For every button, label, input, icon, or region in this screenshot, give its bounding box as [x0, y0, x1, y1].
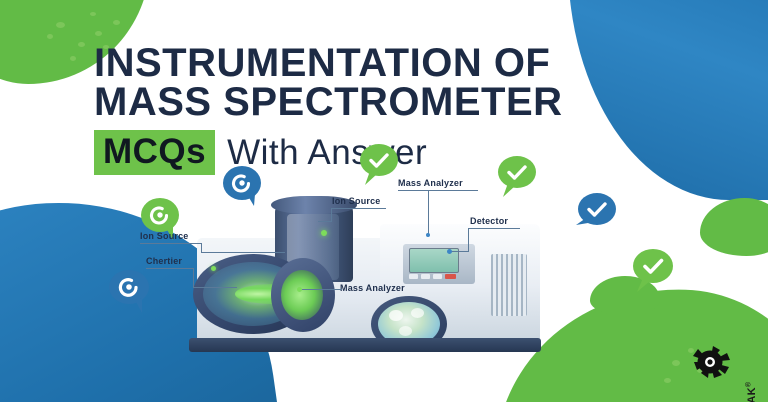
leader-line: [193, 268, 194, 288]
callout-chertier: Chertier: [146, 256, 182, 266]
leader-line: [398, 190, 478, 191]
title-line-2: MASS SPECTROMETER: [94, 83, 694, 122]
leader-line: [331, 208, 332, 222]
speech-bubble-swirl-icon: [108, 268, 150, 308]
leader-line: [468, 228, 520, 229]
brand-name-text: PHARMACY FREAK: [746, 387, 758, 402]
panel-button: [421, 274, 430, 279]
callout-label: Ion Source: [140, 231, 189, 241]
confetti-dot: [70, 56, 76, 61]
leader-line: [201, 252, 285, 253]
leader-line: [140, 243, 202, 244]
panel-button: [433, 274, 442, 279]
leader-line: [468, 228, 469, 252]
leader-line: [193, 287, 237, 288]
confetti-dot: [78, 42, 85, 47]
instrument-base: [189, 338, 541, 352]
callout-mass-analyzer-mid: Mass Analyzer: [340, 283, 405, 293]
panel-button-red: [445, 274, 456, 279]
callout-label: Detector: [470, 216, 508, 226]
confetti-dot: [90, 12, 96, 16]
leader-line: [146, 268, 194, 269]
speech-bubble-check-icon: [632, 248, 676, 288]
callout-ion-source-left: Ion Source: [140, 231, 189, 241]
speech-bubble-check-icon: [359, 143, 399, 181]
confetti-dot: [47, 34, 53, 39]
sample-vial: [411, 308, 424, 318]
confetti-dot: [672, 360, 680, 366]
callout-dot: [426, 233, 430, 237]
speech-bubble-check-icon: [497, 155, 537, 193]
confetti-dot: [664, 378, 671, 383]
callout-label: Mass Analyzer: [398, 178, 463, 188]
callout-detector: Detector: [470, 216, 508, 226]
poster-canvas: INSTRUMENTATION OF MASS SPECTROMETER MCQ…: [0, 0, 768, 402]
registered-mark: ®: [745, 382, 752, 387]
sample-vial: [389, 310, 403, 321]
confetti-dot: [95, 31, 102, 36]
leader-line: [318, 221, 332, 222]
callout-dot: [297, 287, 302, 292]
callout-label: Ion Source: [332, 196, 381, 206]
leader-line: [300, 289, 342, 290]
confetti-dot: [113, 20, 120, 25]
brand-logo[interactable]: PHARMACY FREAK®: [692, 318, 764, 396]
callout-label: Mass Analyzer: [340, 283, 405, 293]
leader-line: [450, 251, 469, 252]
callout-label: Chertier: [146, 256, 182, 266]
analyzer-led: [211, 266, 216, 271]
source-indicator-led: [321, 230, 327, 236]
callout-mass-analyzer-top: Mass Analyzer: [398, 178, 463, 188]
vent-grille: [491, 254, 527, 316]
leader-line: [331, 208, 386, 209]
green-nub-right: [700, 198, 768, 256]
sample-vial: [399, 326, 412, 336]
panel-button: [409, 274, 418, 279]
callout-dot: [447, 249, 452, 254]
callout-ion-source-top: Ion Source: [332, 196, 381, 206]
analyzer-ring-core: [281, 270, 323, 320]
confetti-dot: [56, 22, 65, 28]
speech-bubble-swirl-icon: [140, 197, 180, 235]
mcqs-badge: MCQs: [94, 130, 215, 175]
brand-name: PHARMACY FREAK®: [745, 382, 758, 402]
title-line-1: INSTRUMENTATION OF: [94, 44, 694, 83]
leader-line: [428, 190, 429, 234]
mass-spectrometer-illustration: [175, 192, 595, 362]
